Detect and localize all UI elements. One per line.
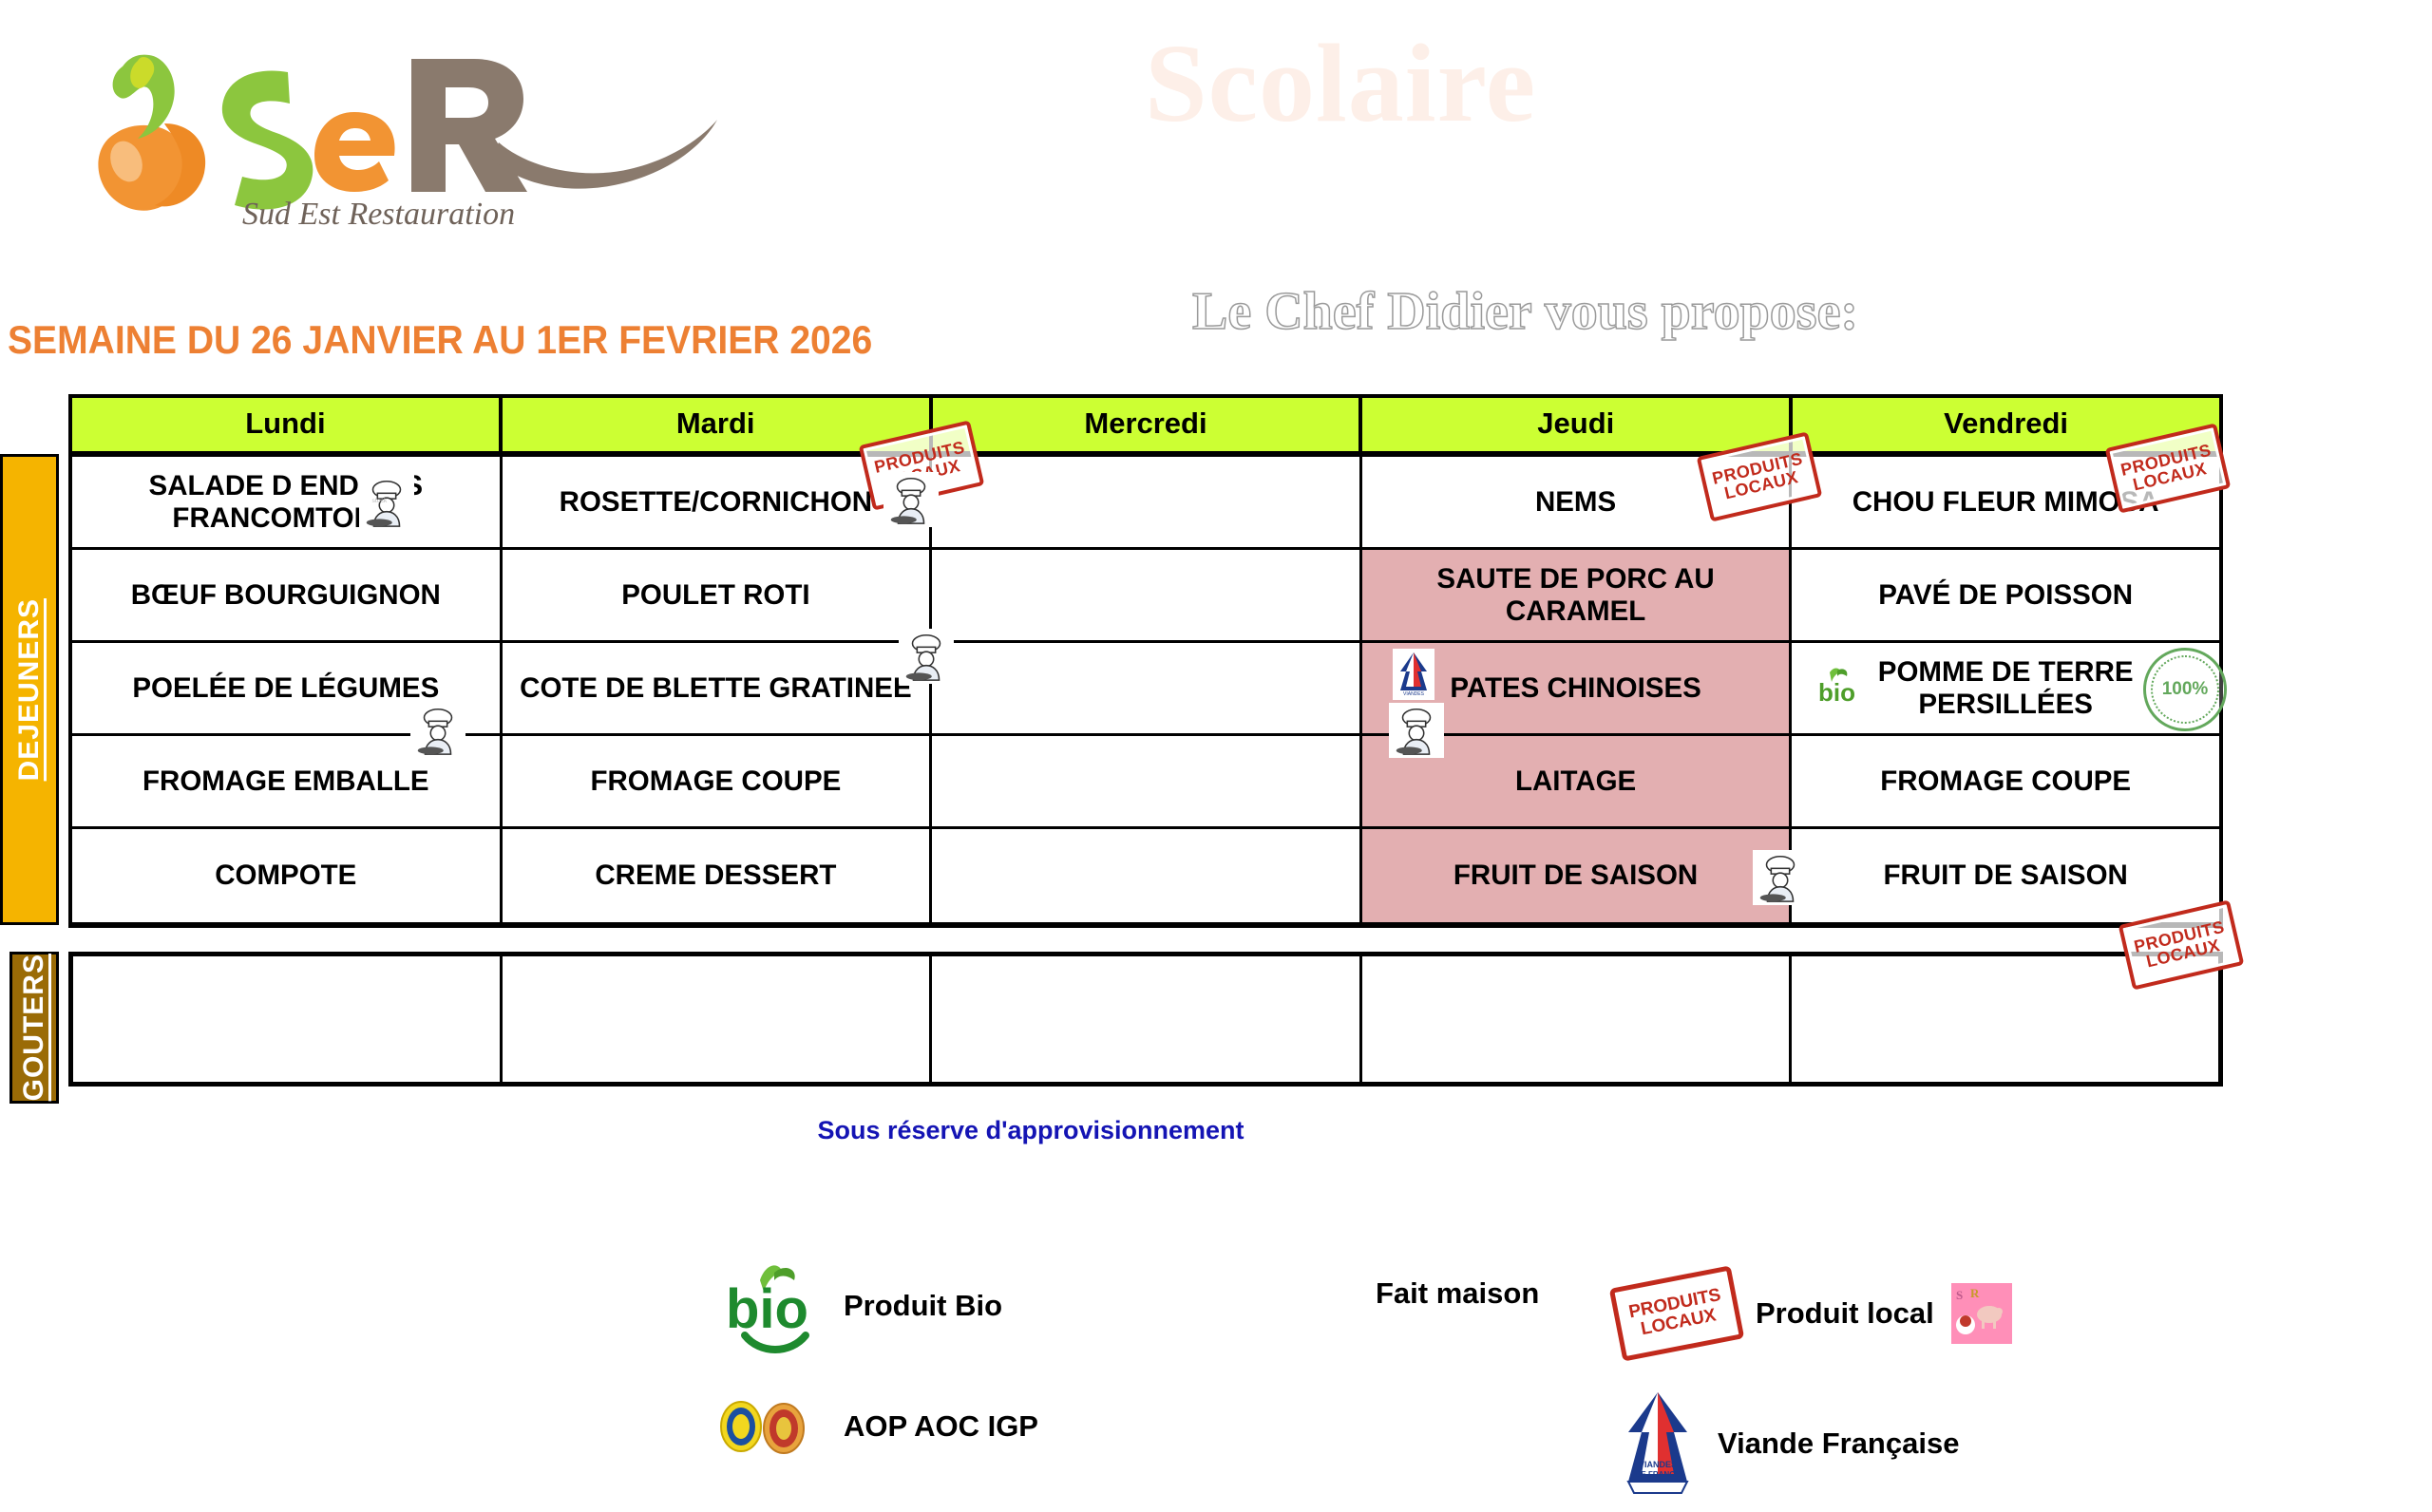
menu-cell: FRUIT DE SAISON: [1362, 829, 1793, 922]
menu-cell: CREME DESSERT: [503, 829, 933, 922]
column-header-mardi: Mardi: [503, 398, 933, 451]
legend-item-viande-francaise: VIANDES DE FRANCE Viande Française: [1615, 1387, 1959, 1501]
section-label-gouters: GOUTERS: [9, 952, 59, 1104]
menu-cell: [932, 643, 1362, 736]
fait-maison-chef-icon: [1753, 850, 1808, 905]
column-header-jeudi: Jeudi: [1362, 398, 1793, 451]
legend-label-viande-francaise: Viande Française: [1718, 1427, 1959, 1461]
legend-label-fait-maison: Fait maison: [1376, 1276, 1539, 1311]
logo-s: [222, 70, 313, 209]
viande-francaise-icon: VIANDES: [1393, 649, 1434, 700]
table-row: FROMAGE EMBALLE FROMAGE COUPE LAITAGE FR…: [72, 736, 2219, 829]
column-header-mercredi: Mercredi: [933, 398, 1363, 451]
column-header-lundi: Lundi: [72, 398, 503, 451]
menu-cell: [932, 736, 1362, 829]
menu-table-header-row: Lundi Mardi Mercredi Jeudi Vendredi: [68, 394, 2223, 457]
week-title: SEMAINE DU 26 JANVIER AU 1ER FEVRIER 202…: [8, 317, 872, 363]
table-row: COMPOTE CREME DESSERT FRUIT DE SAISON FR…: [72, 829, 2219, 922]
svg-text:VIANDES: VIANDES: [1639, 1460, 1677, 1469]
table-row: BŒUF BOURGUIGNON POULET ROTI SAUTE DE PO…: [72, 550, 2219, 643]
fait-maison-chef-icon: stock: [359, 475, 414, 530]
menu-cell: NEMS: [1362, 457, 1793, 550]
bio-icon: bio: [722, 1254, 826, 1358]
logo-e: [314, 112, 395, 192]
logo-tagline: Sud Est Restauration: [242, 197, 515, 228]
menu-cell: SAUTE DE PORC AU CARAMEL: [1362, 550, 1793, 643]
svg-text:R: R: [1970, 1286, 1980, 1300]
legend-label-bio: Produit Bio: [844, 1289, 1002, 1323]
legend-item-bio: bio Produit Bio: [722, 1254, 1002, 1358]
column-header-vendredi: Vendredi: [1793, 398, 2219, 451]
legend-item-fait-maison: Fait maison: [1376, 1276, 1539, 1311]
table-row: [73, 956, 2218, 1082]
produit-local-photo-icon: S R: [1951, 1283, 2012, 1344]
snack-cell: [1362, 956, 1792, 1082]
legend-label-produit-local: Produit local: [1756, 1296, 1934, 1331]
watermark-title: Scolaire: [1145, 19, 1536, 148]
legend: bio Produit Bio Fait maison PRODUITS LOC…: [0, 1254, 2432, 1501]
fait-maison-chef-icon: [1389, 703, 1444, 758]
legend-label-aop: AOP AOC IGP: [844, 1409, 1038, 1444]
menu-cell: FROMAGE COUPE: [1792, 736, 2219, 829]
menu-cell: COMPOTE: [72, 829, 503, 922]
chef-proposal-title: Le Chef Didier vous propose:: [1192, 281, 1858, 342]
produits-locaux-stamp-icon: PRODUITS LOCAUX: [1615, 1276, 1738, 1351]
svg-text:bio: bio: [726, 1278, 808, 1340]
svg-text:stock: stock: [372, 498, 388, 504]
menu-cell: [932, 829, 1362, 922]
menu-cell: COTE DE BLETTE GRATINEE: [503, 643, 933, 736]
snack-cell: [73, 956, 503, 1082]
fait-maison-chef-icon: [410, 703, 465, 758]
svg-text:VIANDES: VIANDES: [1403, 691, 1425, 697]
menu-cell: BŒUF BOURGUIGNON: [72, 550, 503, 643]
menu-cell: PAVÉ DE POISSON: [1792, 550, 2219, 643]
snack-cell: [932, 956, 1361, 1082]
menu-cell: [932, 457, 1362, 550]
menu-cell: [932, 550, 1362, 643]
ser-logo: Sud Est Restauration: [52, 28, 755, 228]
menu-cell: FROMAGE COUPE: [503, 736, 933, 829]
menu-cell: POULET ROTI: [503, 550, 933, 643]
section-label-dejeuners-text: DEJEUNERS: [13, 598, 46, 781]
aop-aoc-igp-icon: [712, 1392, 826, 1461]
menu-cell: ROSETTE/CORNICHON: [503, 457, 933, 550]
legend-item-produit-local: PRODUITS LOCAUX Produit local S R: [1615, 1276, 2012, 1351]
section-label-dejeuners: DEJEUNERS: [0, 454, 59, 925]
table-row: POELÉE DE LÉGUMES COTE DE BLETTE GRATINE…: [72, 643, 2219, 736]
fait-maison-chef-icon: [899, 629, 954, 684]
svg-text:DE FRANCE: DE FRANCE: [1636, 1470, 1681, 1479]
section-label-gouters-text: GOUTERS: [18, 954, 50, 1101]
snack-table: [68, 952, 2223, 1087]
legend-item-aop: AOP AOC IGP: [712, 1392, 1038, 1461]
snack-cell: [1792, 956, 2218, 1082]
reserve-note-text: Sous réserve d'approvisionnement: [817, 1116, 1244, 1145]
menu-cell: CHOU FLEUR MIMOSA: [1792, 457, 2219, 550]
snack-cell: [503, 956, 932, 1082]
menu-cell: SALADE D ENDIVES FRANCOMTOISE: [72, 457, 503, 550]
svg-text:S: S: [1956, 1288, 1963, 1302]
viande-francaise-icon: VIANDES DE FRANCE: [1615, 1387, 1700, 1501]
menu-cell: FRUIT DE SAISON: [1792, 829, 2219, 922]
bio-icon: bio: [1816, 665, 1870, 707]
fait-maison-chef-icon: [883, 472, 939, 527]
svg-text:bio: bio: [1818, 678, 1855, 707]
reserve-note: Sous réserve d'approvisionnement: [0, 1116, 2432, 1145]
